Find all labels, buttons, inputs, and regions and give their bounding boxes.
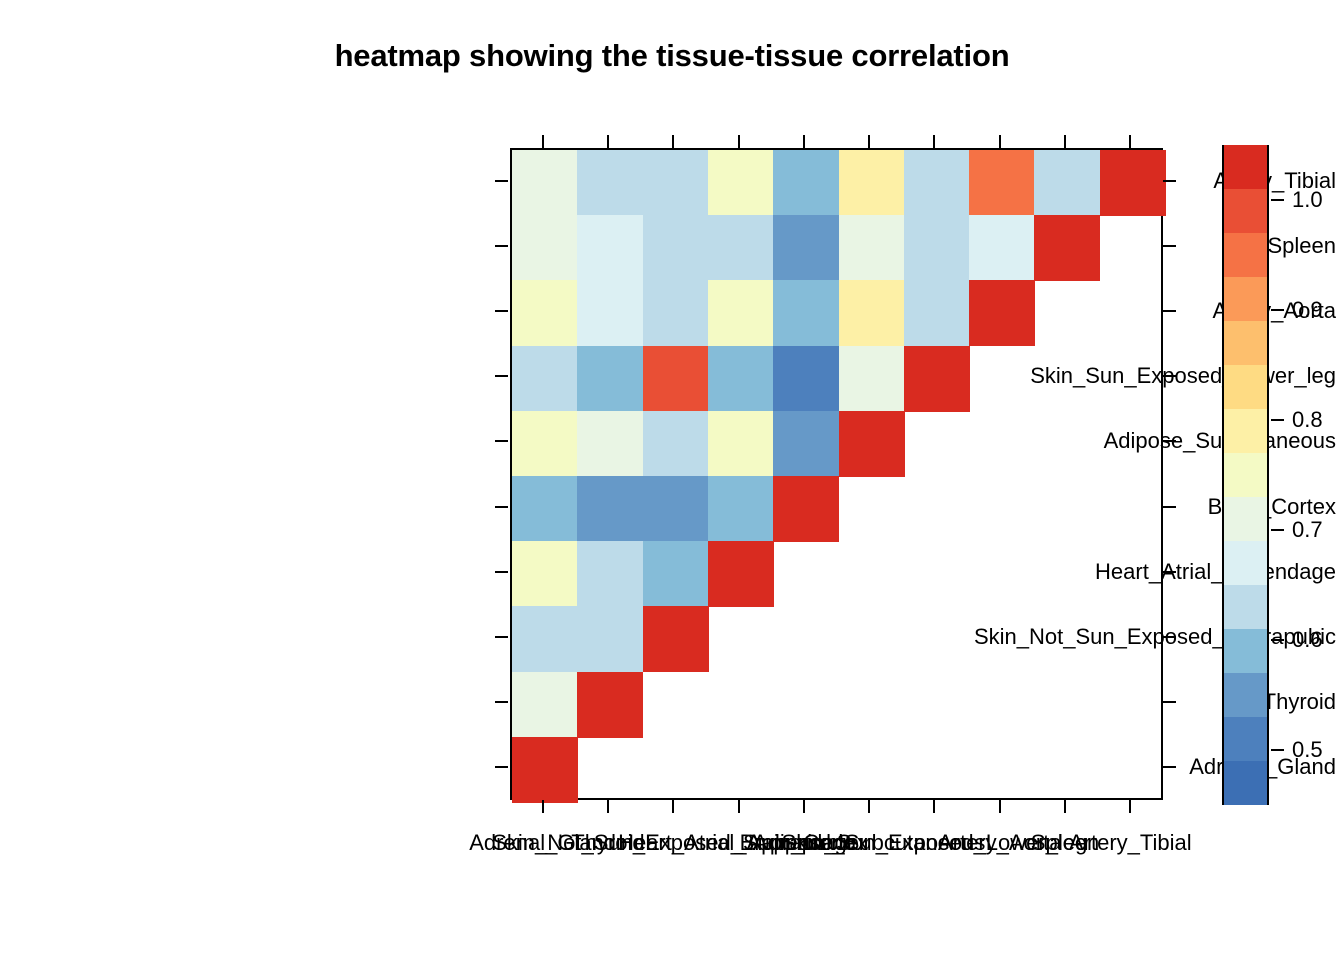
heatmap-cell bbox=[643, 280, 709, 346]
colorbar-band bbox=[1224, 277, 1267, 321]
heatmap-cell bbox=[512, 346, 578, 412]
heatmap-cell bbox=[643, 215, 709, 281]
page-title: heatmap showing the tissue-tissue correl… bbox=[0, 38, 1344, 74]
y-axis-label: Skin_Sun_Exposed_Lower_leg bbox=[864, 363, 1344, 389]
colorbar-band bbox=[1224, 717, 1267, 761]
colorbar bbox=[1222, 145, 1269, 805]
colorbar-tick-label: 0.6 bbox=[1292, 627, 1323, 653]
y-axis-label: Brain_Cortex bbox=[864, 494, 1344, 520]
y-axis-label: Heart_Atrial_Appendage bbox=[864, 559, 1344, 585]
colorbar-tick-label: 0.7 bbox=[1292, 517, 1323, 543]
heatmap-cell bbox=[773, 346, 839, 412]
y-axis-tick bbox=[495, 701, 508, 703]
heatmap-figure: heatmap showing the tissue-tissue correl… bbox=[0, 0, 1344, 960]
heatmap-cell bbox=[708, 411, 774, 477]
heatmap-cell bbox=[512, 541, 578, 607]
colorbar-band bbox=[1224, 673, 1267, 717]
x-axis-tick bbox=[738, 800, 740, 813]
y-axis-label: Adipose_Subcutaneous bbox=[864, 428, 1344, 454]
heatmap-cell bbox=[643, 150, 709, 216]
heatmap-cell bbox=[577, 411, 643, 477]
y-axis-tick bbox=[495, 245, 508, 247]
x-axis-tick bbox=[803, 800, 805, 813]
x-axis-tick bbox=[999, 800, 1001, 813]
heatmap-cell bbox=[512, 215, 578, 281]
colorbar-tick bbox=[1271, 529, 1284, 531]
heatmap-cell bbox=[512, 737, 578, 803]
heatmap-cell bbox=[577, 215, 643, 281]
colorbar-band bbox=[1224, 497, 1267, 541]
y-axis-label: Artery_Aorta bbox=[864, 298, 1344, 324]
heatmap-cell bbox=[512, 606, 578, 672]
heatmap-cell bbox=[773, 411, 839, 477]
y-axis-tick bbox=[495, 310, 508, 312]
x-axis-tick bbox=[868, 800, 870, 813]
colorbar-tick-label: 0.5 bbox=[1292, 737, 1323, 763]
heatmap-cell bbox=[708, 150, 774, 216]
colorbar-tick-label: 0.9 bbox=[1292, 297, 1323, 323]
heatmap-cell bbox=[773, 280, 839, 346]
colorbar-band bbox=[1224, 365, 1267, 409]
x-axis-tick bbox=[1129, 800, 1131, 813]
colorbar-tick bbox=[1271, 309, 1284, 311]
x-axis-tick-top bbox=[1129, 135, 1131, 148]
heatmap-cell bbox=[773, 215, 839, 281]
y-axis-tick bbox=[495, 375, 508, 377]
y-axis-label: Spleen bbox=[864, 233, 1344, 259]
heatmap-cell bbox=[643, 411, 709, 477]
heatmap-cell bbox=[512, 280, 578, 346]
y-axis-tick bbox=[495, 506, 508, 508]
heatmap-cell bbox=[643, 606, 709, 672]
colorbar-band bbox=[1224, 585, 1267, 629]
heatmap-cell bbox=[512, 672, 578, 738]
colorbar-tick-label: 0.8 bbox=[1292, 407, 1323, 433]
heatmap-cell bbox=[577, 280, 643, 346]
heatmap-cell bbox=[577, 346, 643, 412]
heatmap-cell bbox=[512, 476, 578, 542]
x-axis-tick-top bbox=[672, 135, 674, 148]
heatmap-cell bbox=[512, 150, 578, 216]
y-axis-label: Artery_Tibial bbox=[864, 168, 1344, 194]
y-axis-tick bbox=[495, 180, 508, 182]
colorbar-band bbox=[1224, 233, 1267, 277]
x-axis-tick-top bbox=[868, 135, 870, 148]
heatmap-cell bbox=[773, 150, 839, 216]
heatmap-cell bbox=[512, 411, 578, 477]
colorbar-band bbox=[1224, 453, 1267, 497]
colorbar-band bbox=[1224, 629, 1267, 673]
heatmap-cell bbox=[577, 606, 643, 672]
heatmap-cell bbox=[708, 476, 774, 542]
heatmap-cell bbox=[577, 541, 643, 607]
heatmap-cell bbox=[708, 541, 774, 607]
x-axis-tick-top bbox=[933, 135, 935, 148]
heatmap-cell bbox=[643, 476, 709, 542]
heatmap-cell bbox=[577, 476, 643, 542]
x-axis-tick bbox=[607, 800, 609, 813]
x-axis-tick-top bbox=[542, 135, 544, 148]
colorbar-band bbox=[1224, 409, 1267, 453]
heatmap-cell bbox=[643, 346, 709, 412]
x-axis-tick-top bbox=[1064, 135, 1066, 148]
colorbar-tick bbox=[1271, 749, 1284, 751]
colorbar-band bbox=[1224, 321, 1267, 365]
x-axis-tick bbox=[933, 800, 935, 813]
heatmap-cell bbox=[708, 346, 774, 412]
heatmap-cell bbox=[577, 672, 643, 738]
y-axis-tick bbox=[495, 571, 508, 573]
colorbar-band bbox=[1224, 189, 1267, 233]
heatmap-cell bbox=[577, 150, 643, 216]
x-axis-tick-top bbox=[607, 135, 609, 148]
heatmap-cell bbox=[708, 280, 774, 346]
colorbar-band bbox=[1224, 541, 1267, 585]
colorbar-tick bbox=[1271, 199, 1284, 201]
y-axis-tick bbox=[495, 636, 508, 638]
y-axis-label: Adrenal_Gland bbox=[864, 754, 1344, 780]
y-axis-tick bbox=[495, 440, 508, 442]
x-axis-tick bbox=[672, 800, 674, 813]
x-axis-tick-top bbox=[999, 135, 1001, 148]
x-axis-tick bbox=[542, 800, 544, 813]
colorbar-tick-label: 1.0 bbox=[1292, 187, 1323, 213]
y-axis-tick bbox=[495, 766, 508, 768]
heatmap-cell bbox=[643, 541, 709, 607]
x-axis-label: Artery_Tibial bbox=[1069, 830, 1192, 856]
heatmap-cell bbox=[773, 476, 839, 542]
colorbar-tick bbox=[1271, 639, 1284, 641]
colorbar-tick bbox=[1271, 419, 1284, 421]
x-axis-tick-top bbox=[738, 135, 740, 148]
x-axis-tick-top bbox=[803, 135, 805, 148]
colorbar-band bbox=[1224, 145, 1267, 189]
heatmap-cell bbox=[708, 215, 774, 281]
y-axis-label: Thyroid bbox=[864, 689, 1344, 715]
y-axis-label: Skin_Not_Sun_Exposed_Suprapubic bbox=[864, 624, 1344, 650]
colorbar-band bbox=[1224, 761, 1267, 805]
x-axis-tick bbox=[1064, 800, 1066, 813]
